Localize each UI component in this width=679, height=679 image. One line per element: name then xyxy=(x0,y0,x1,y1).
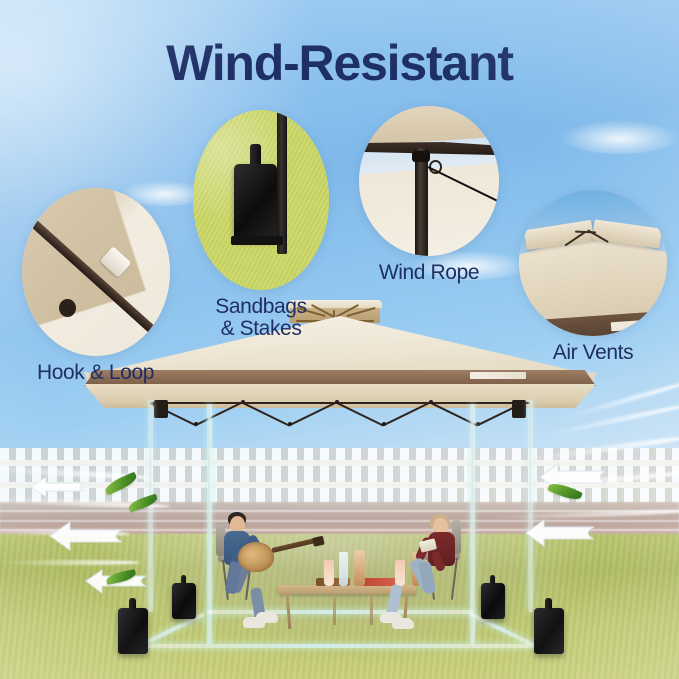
feature-sandbags-stakes[interactable]: Sandbags & Stakes xyxy=(186,110,336,340)
acoustic-guitar xyxy=(238,542,274,572)
bottle-clear xyxy=(339,552,348,586)
bottle-amber xyxy=(354,550,365,586)
wine-glass-left xyxy=(324,560,334,586)
feature-air-vents-label: Air Vents xyxy=(513,342,673,364)
feature-air-vents-image xyxy=(519,190,667,336)
feature-hook-loop-label: Hook & Loop xyxy=(8,362,183,384)
wind-arrow-left-2 xyxy=(46,518,124,554)
sandbag-front-right xyxy=(534,608,564,654)
page-title: Wind-Resistant xyxy=(0,34,679,92)
product-infographic: Wind-Resistant Hook & Loop Sandbags & St… xyxy=(0,0,679,679)
feature-air-vents[interactable]: Air Vents xyxy=(513,190,673,364)
sandbag-front-left xyxy=(118,608,148,654)
feature-hook-loop-image xyxy=(22,188,170,356)
wind-rope-art xyxy=(359,106,499,256)
base-back-edge xyxy=(207,610,473,614)
feature-wind-rope[interactable]: Wind Rope xyxy=(356,106,502,284)
wind-arrow-left-1 xyxy=(28,474,86,500)
gazebo-leg-back-right xyxy=(528,400,533,612)
feature-sandbags-label: Sandbags & Stakes xyxy=(186,296,336,340)
wine-glass-right xyxy=(395,560,405,586)
feature-wind-rope-label: Wind Rope xyxy=(356,262,502,284)
sandbag-back-right xyxy=(481,583,505,619)
gazebo-leg-front-right xyxy=(470,404,475,644)
hook-loop-art xyxy=(22,188,170,356)
base-front-edge xyxy=(139,644,537,648)
feature-wind-rope-image xyxy=(359,106,499,256)
feature-sandbags-image xyxy=(193,110,329,290)
gazebo-leg-front-left xyxy=(207,404,212,644)
sandbags-art xyxy=(193,110,329,290)
wind-arrow-right-2 xyxy=(522,516,596,550)
feature-hook-loop[interactable]: Hook & Loop xyxy=(8,188,183,384)
air-vents-art xyxy=(519,190,667,336)
sandbag-back-left xyxy=(172,583,196,619)
brand-tag xyxy=(470,372,526,379)
